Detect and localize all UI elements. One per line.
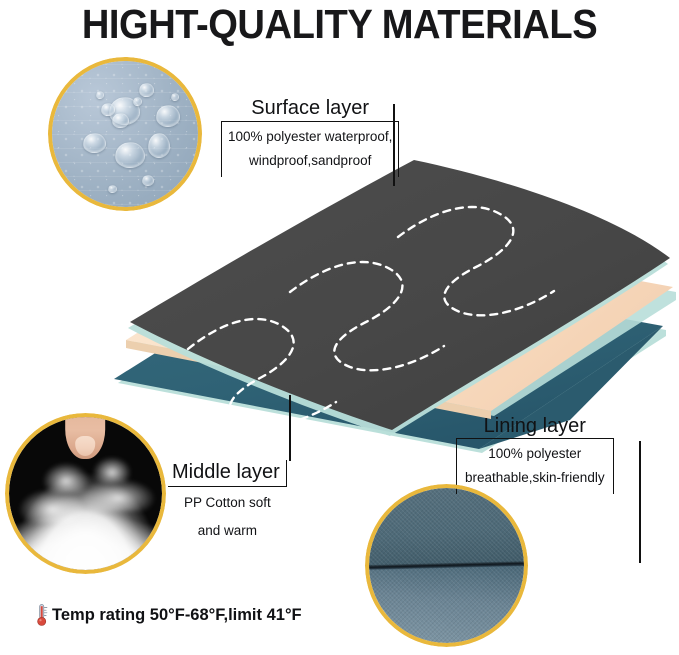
callout-middle-line2: and warm — [168, 515, 287, 543]
temp-rating-text: Temp rating 50°F-68°F,limit 41°F — [52, 605, 302, 625]
leader-line-middle — [289, 395, 291, 461]
callout-lining-heading: Lining layer — [456, 414, 614, 438]
callout-surface-box: 100% polyester waterproof, windproof,san… — [221, 121, 399, 177]
middle-layer-photo — [5, 413, 166, 574]
callout-lining-box: 100% polyester breathable,skin-friendly — [456, 438, 614, 494]
callout-lining-layer: Lining layer 100% polyester breathable,s… — [456, 414, 614, 494]
callout-lining-line1: 100% polyester — [465, 442, 605, 466]
infographic-page: HIGHT-QUALITY MATERIALS — [0, 0, 679, 655]
callout-surface-layer: Surface layer 100% polyester waterproof,… — [221, 96, 399, 177]
callout-surface-line1: 100% polyester waterproof, — [228, 125, 392, 149]
pp-cotton-fiber-photo — [9, 417, 162, 570]
page-title: HIGHT-QUALITY MATERIALS — [24, 2, 655, 46]
callout-middle-layer: Middle layer PP Cotton soft and warm — [168, 460, 287, 543]
callout-surface-line2: windproof,sandproof — [228, 149, 392, 173]
temp-rating-row: Temp rating 50°F-68°F,limit 41°F — [34, 603, 302, 627]
callout-middle-line1: PP Cotton soft — [168, 487, 287, 515]
surface-layer-photo — [48, 57, 202, 211]
lining-layer-photo — [365, 484, 528, 647]
honeycomb-texture — [52, 61, 198, 207]
slate-woven-fabric-photo — [369, 488, 524, 643]
leader-line-lining — [639, 441, 641, 563]
water-droplets-fabric-photo — [52, 61, 198, 207]
callout-middle-heading: Middle layer — [168, 460, 287, 487]
callout-surface-heading: Surface layer — [221, 96, 399, 121]
callout-lining-line2: breathable,skin-friendly — [465, 466, 605, 490]
callout-middle-box: PP Cotton soft and warm — [168, 487, 287, 543]
thermometer-icon — [34, 603, 50, 627]
